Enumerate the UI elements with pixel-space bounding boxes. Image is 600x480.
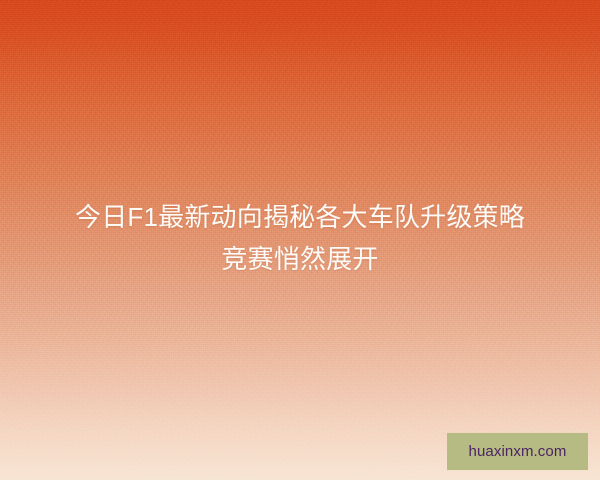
title-card: 今日F1最新动向揭秘各大车队升级策略 竞赛悄然展开 huaxinxm.com [0,0,600,480]
site-watermark-badge[interactable]: huaxinxm.com [447,433,588,470]
page-title: 今日F1最新动向揭秘各大车队升级策略 竞赛悄然展开 [0,196,600,280]
site-watermark-label: huaxinxm.com [469,444,567,459]
